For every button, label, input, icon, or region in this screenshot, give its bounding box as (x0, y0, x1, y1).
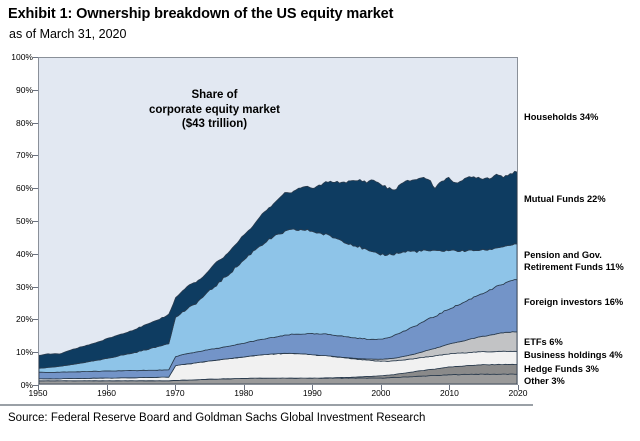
source-note: Source: Federal Reserve Board and Goldma… (8, 412, 425, 424)
y-tick-label-80: 80% (16, 118, 33, 128)
x-tick-mark (107, 385, 108, 390)
x-tick-mark (449, 385, 450, 390)
y-tick-label-20: 20% (16, 314, 33, 324)
x-tick-mark (312, 385, 313, 390)
x-tick-mark (38, 385, 39, 390)
y-tick-label-70: 70% (16, 150, 33, 160)
y-tick-label-50: 50% (16, 216, 33, 226)
annotation-line-3: ($43 trillion) (112, 117, 317, 132)
x-tick-mark (175, 385, 176, 390)
x-tick-mark (381, 385, 382, 390)
x-tick-mark (244, 385, 245, 390)
series-label-households: Households 34% (524, 112, 598, 124)
annotation-line-1: Share of (112, 88, 317, 103)
annotation-line-2: corporate equity market (112, 103, 317, 118)
series-label-pension-line-2: Retirement Funds 11% (524, 262, 624, 274)
x-tick-mark (518, 385, 519, 390)
series-label-mutual-funds: Mutual Funds 22% (524, 194, 606, 206)
series-label-hedge: Hedge Funds 3% (524, 364, 599, 376)
y-tick-label-100: 100% (11, 52, 33, 62)
series-label-foreign: Foreign investors 16% (524, 297, 623, 309)
chart-annotation: Share of corporate equity market ($43 tr… (112, 88, 317, 132)
page-title: Exhibit 1: Ownership breakdown of the US… (8, 6, 393, 22)
y-tick-label-60: 60% (16, 183, 33, 193)
series-label-other: Other 3% (524, 376, 565, 388)
y-tick-label-40: 40% (16, 249, 33, 259)
exhibit-container: Exhibit 1: Ownership breakdown of the US… (0, 0, 640, 441)
series-label-etfs: ETFs 6% (524, 337, 563, 349)
series-label-business: Business holdings 4% (524, 350, 623, 362)
series-label-pension: Pension and Gov. Retirement Funds 11% (524, 250, 624, 273)
y-axis: 0%10%20%30%40%50%60%70%80%90%100% (0, 0, 38, 441)
footer-divider (0, 404, 533, 406)
y-tick-label-90: 90% (16, 85, 33, 95)
y-tick-label-10: 10% (16, 347, 33, 357)
y-tick-label-30: 30% (16, 282, 33, 292)
series-label-pension-line-1: Pension and Gov. (524, 250, 624, 262)
